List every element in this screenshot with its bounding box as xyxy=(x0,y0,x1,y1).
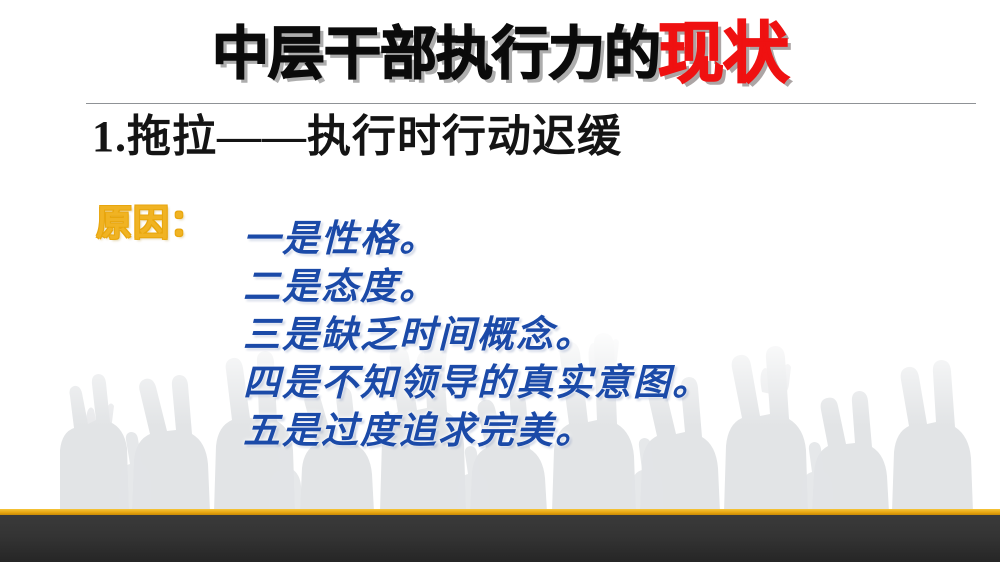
slide-title: 中层干部执行力的现状 xyxy=(0,18,1000,84)
slide-title-red-part: 现状 xyxy=(658,21,788,87)
list-item: 五是过度追求完美。 xyxy=(243,408,711,456)
slide-subtitle: 1.拖拉——执行时行动迟缓 xyxy=(92,112,622,163)
presentation-slide: 中层干部执行力的现状 1.拖拉——执行时行动迟缓 原因： 一是性格。 二是态度。… xyxy=(0,0,1000,562)
title-divider-rule xyxy=(86,103,976,104)
reasons-label: 原因： xyxy=(96,200,207,242)
list-item: 三是缺乏时间概念。 xyxy=(243,312,711,360)
reasons-list: 一是性格。 二是态度。 三是缺乏时间概念。 四是不知领导的真实意图。 五是过度追… xyxy=(243,216,711,456)
list-item: 一是性格。 xyxy=(243,216,711,264)
reasons-block: 原因： 一是性格。 二是态度。 三是缺乏时间概念。 四是不知领导的真实意图。 五… xyxy=(96,200,711,472)
list-item: 二是态度。 xyxy=(243,264,711,312)
slide-title-black-part: 中层干部执行力的 xyxy=(212,26,660,83)
footer-dark-bar xyxy=(0,515,1000,562)
list-item: 四是不知领导的真实意图。 xyxy=(243,360,711,408)
